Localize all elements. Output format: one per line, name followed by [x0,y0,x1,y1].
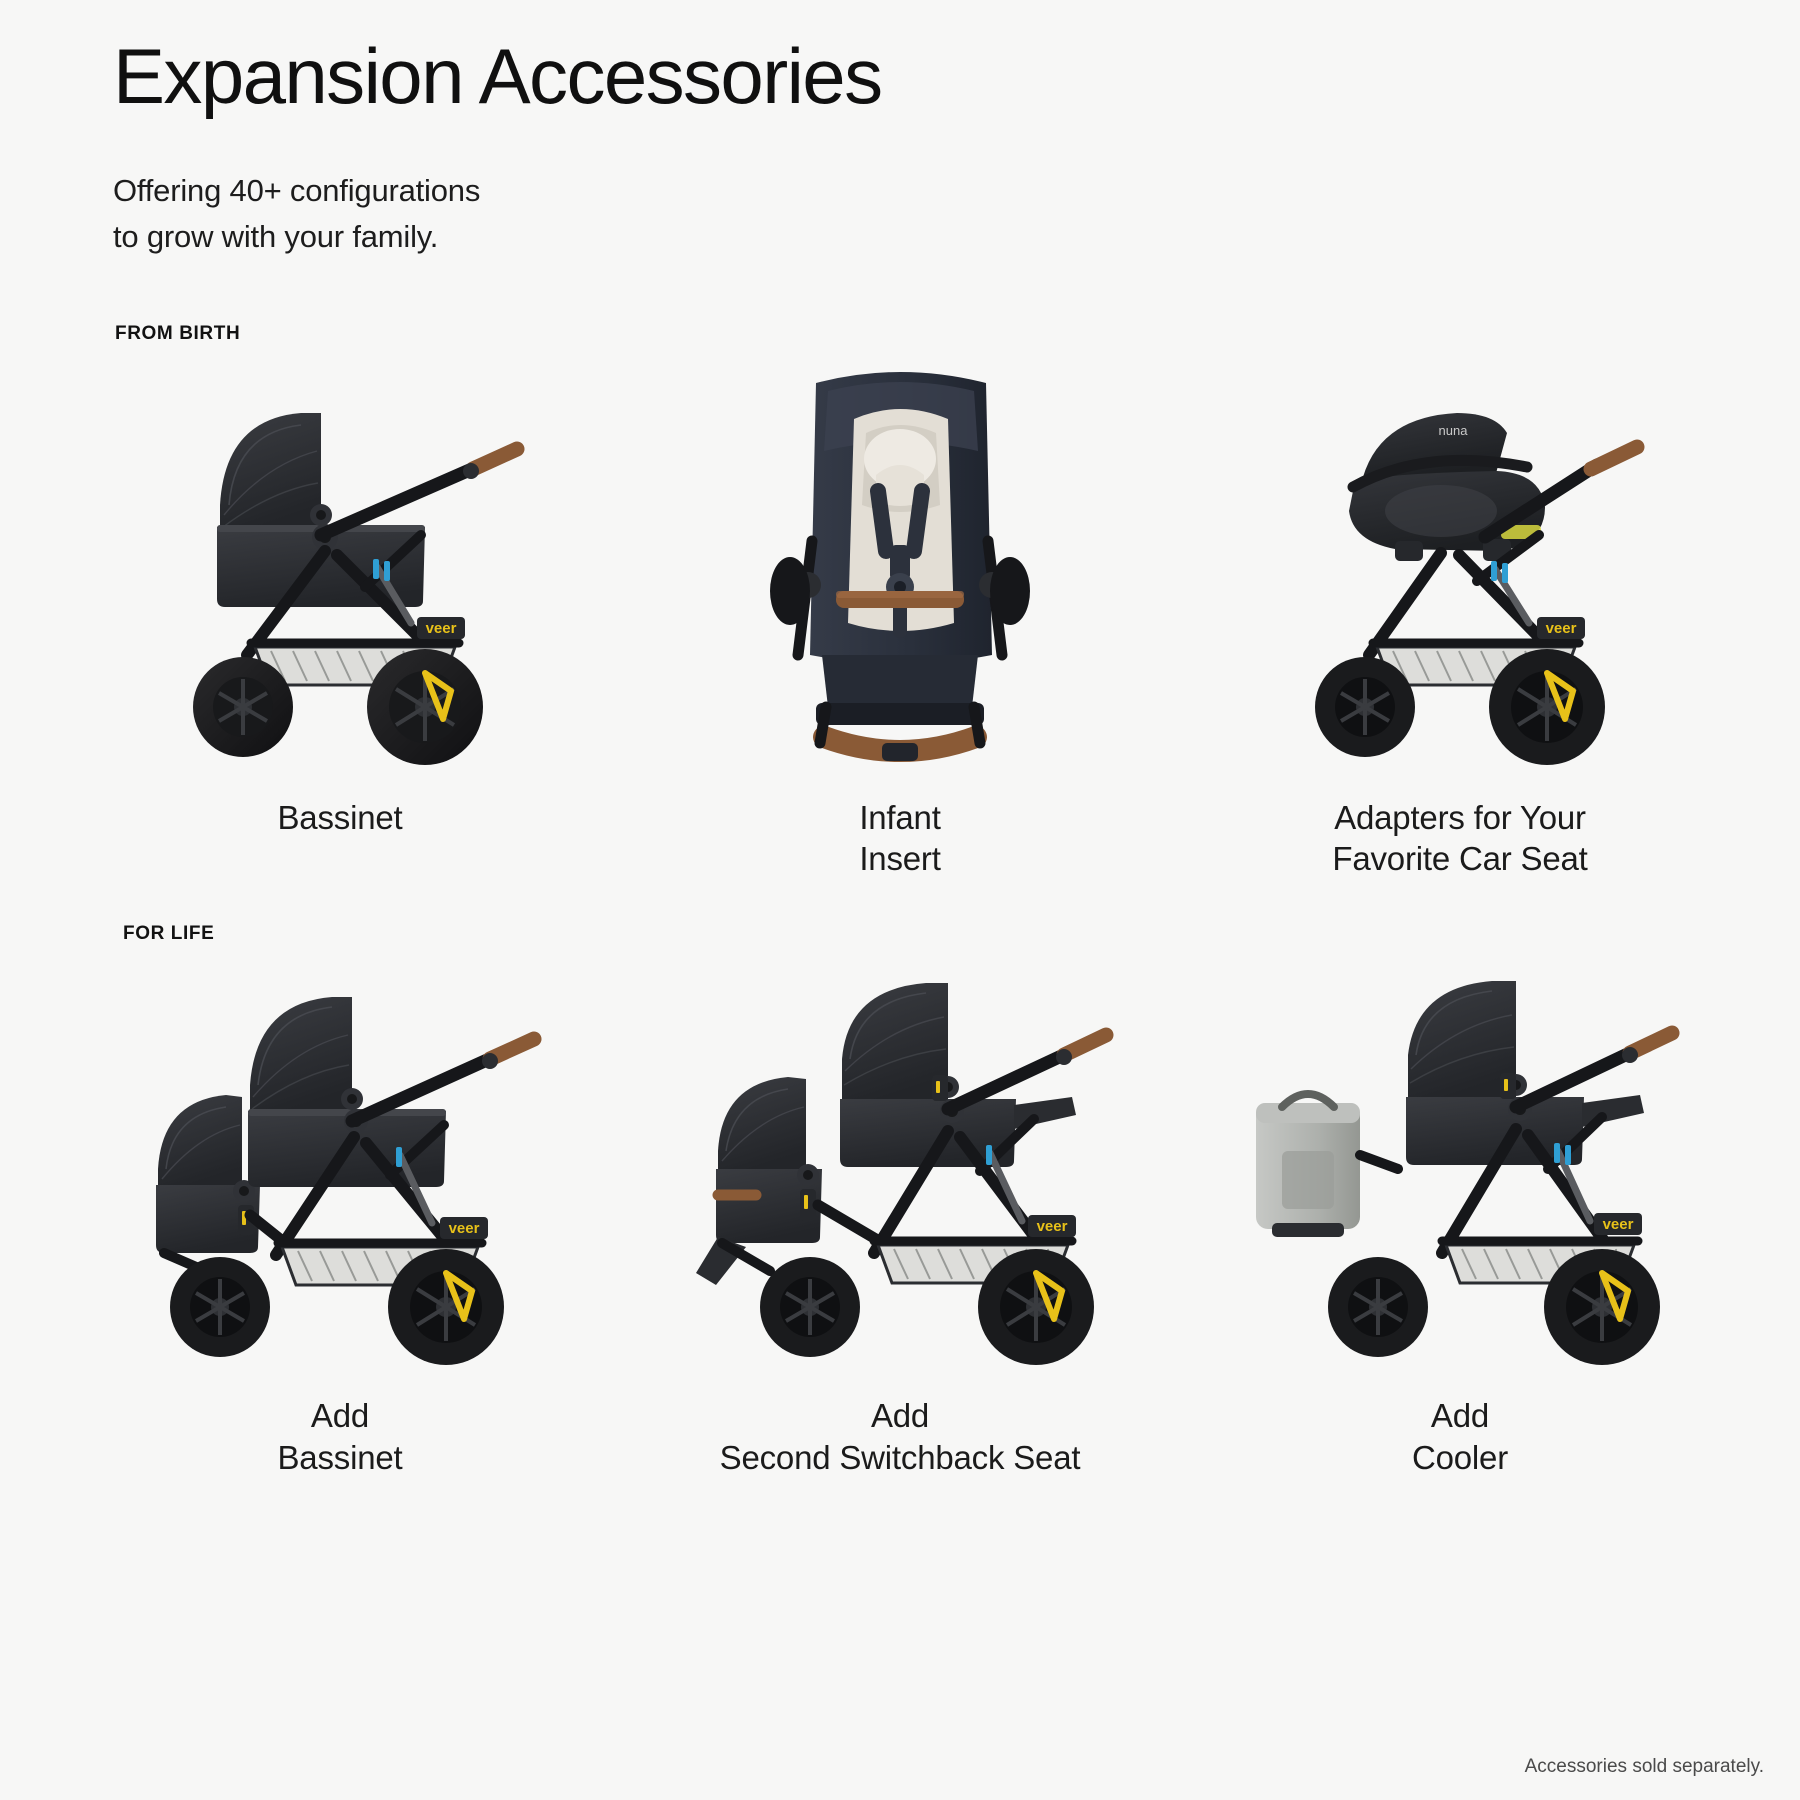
svg-text:nuna: nuna [1439,423,1469,438]
product-card-add-bassinet[interactable]: veer Add Bassine [60,945,620,1478]
caption-line-2: Second Switchback Seat [720,1437,1081,1478]
caption-line-1: Bassinet [278,797,403,838]
product-caption-add-second-seat: Add Second Switchback Seat [720,1395,1081,1478]
product-caption-add-cooler: Add Cooler [1412,1395,1508,1478]
caption-line-2: Insert [859,838,940,879]
svg-text:veer: veer [1603,1216,1634,1233]
section-label-from-birth: FROM BIRTH [115,323,1800,345]
product-image-bassinet: veer [60,345,620,775]
infant-insert-illustration [750,355,1050,775]
footer-disclaimer: Accessories sold separately. [1525,1756,1764,1778]
caption-line-1: Add [278,1395,403,1436]
page-header: Expansion Accessories Offering 40+ confi… [0,0,1800,260]
page-title: Expansion Accessories [113,34,1800,118]
caption-line-2: Cooler [1412,1437,1508,1478]
product-card-car-seat-adapters[interactable]: nuna [1180,345,1740,880]
product-image-add-bassinet: veer [60,945,620,1375]
product-image-add-cooler: veer [1180,945,1740,1375]
caption-line-2: Bassinet [278,1437,403,1478]
caption-line-1: Add [720,1395,1081,1436]
page-subtitle: Offering 40+ configurations to grow with… [113,168,1800,260]
caption-line-1: Infant [859,797,940,838]
product-card-add-second-seat[interactable]: veer Add Second [620,945,1180,1478]
accessories-page: Expansion Accessories Offering 40+ confi… [0,0,1800,1800]
product-card-bassinet[interactable]: veer Bassinet [60,345,620,880]
svg-text:veer: veer [449,1220,480,1237]
stroller-with-car-seat-illustration: nuna [1245,355,1675,775]
product-card-add-cooler[interactable]: veer Add Cooler [1180,945,1740,1478]
product-image-car-seat-adapters: nuna [1180,345,1740,775]
stroller-with-cooler-illustration: veer [1220,955,1700,1375]
caption-line-1: Add [1412,1395,1508,1436]
product-row-from-birth: veer Bassinet [60,345,1740,880]
product-image-infant-insert [620,345,1180,775]
stroller-double-seat-illustration: veer [660,955,1140,1375]
stroller-with-bassinet-illustration: veer [125,355,555,775]
caption-line-2: Favorite Car Seat [1332,838,1587,879]
product-card-infant-insert[interactable]: Infant Insert [620,345,1180,880]
product-caption-infant-insert: Infant Insert [859,797,940,880]
caption-line-1: Adapters for Your [1332,797,1587,838]
product-caption-car-seat-adapters: Adapters for Your Favorite Car Seat [1332,797,1587,880]
product-caption-bassinet: Bassinet [278,797,403,838]
product-caption-add-bassinet: Add Bassinet [278,1395,403,1478]
subtitle-line-1: Offering 40+ configurations [113,168,1800,214]
stroller-double-bassinet-illustration: veer [100,955,580,1375]
product-image-add-second-seat: veer [620,945,1180,1375]
product-row-for-life: veer Add Bassine [60,945,1740,1478]
section-label-for-life: FOR LIFE [123,923,1800,945]
subtitle-line-2: to grow with your family. [113,214,1800,260]
svg-text:veer: veer [1546,620,1577,637]
svg-text:veer: veer [426,620,457,637]
svg-text:veer: veer [1037,1218,1068,1235]
